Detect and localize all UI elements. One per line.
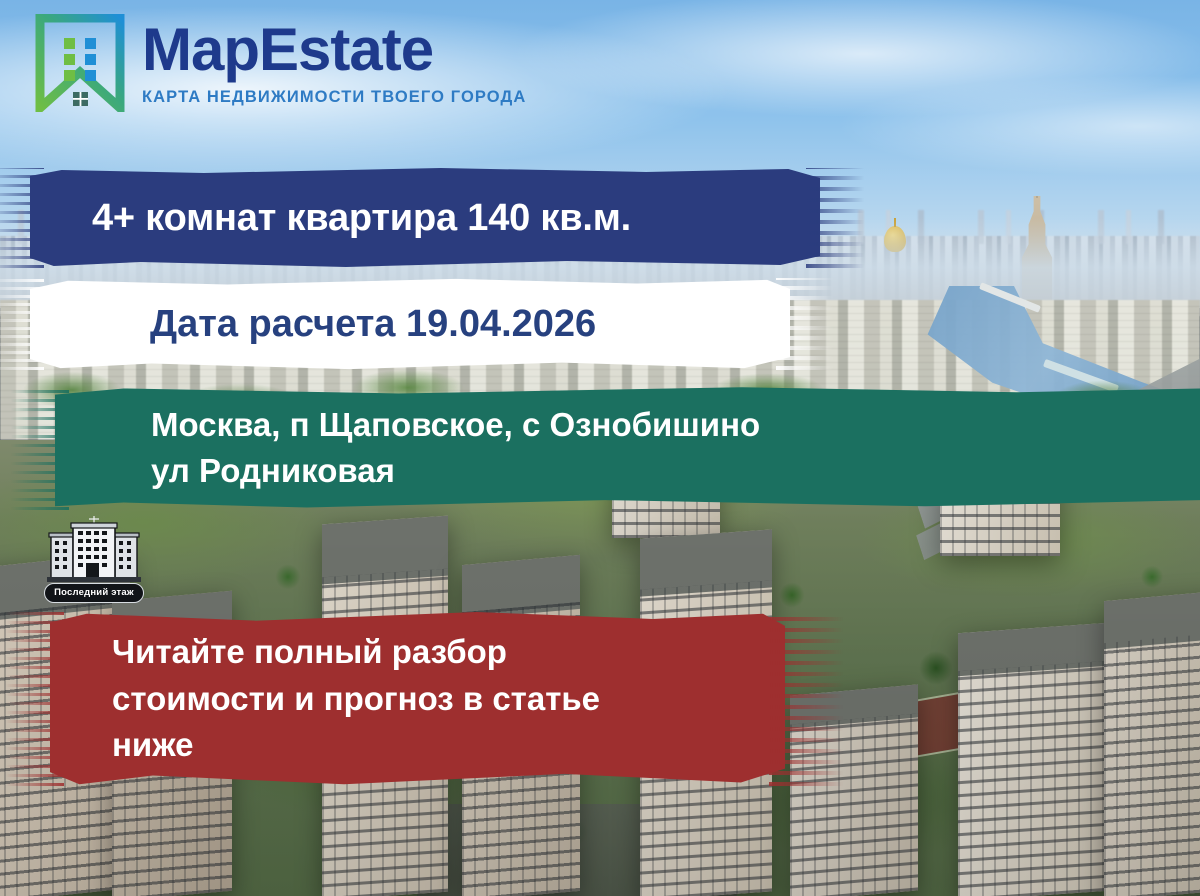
cta-line-3: ниже [112, 722, 785, 769]
address-line-2: ул Родниковая [151, 448, 1200, 494]
address-line-1: Москва, п Щаповское, с Ознобишино [151, 402, 1200, 448]
address-banner: Москва, п Щаповское, с Ознобишино ул Род… [55, 386, 1200, 510]
brand-tagline: КАРТА НЕДВИЖИМОСТИ ТВОЕГО ГОРОДА [142, 89, 526, 106]
cta-text: Читайте полный разбор стоимости и прогно… [50, 629, 785, 770]
promo-poster: MapEstate КАРТА НЕДВИЖИМОСТИ ТВОЕГО ГОРО… [0, 0, 1200, 896]
calculation-date-banner: Дата расчета 19.04.2026 [30, 278, 790, 370]
apartment-building-icon [47, 516, 141, 582]
brand-logo-text: MapEstate КАРТА НЕДВИЖИМОСТИ ТВОЕГО ГОРО… [142, 20, 526, 106]
brand-logo-header[interactable]: MapEstate КАРТА НЕДВИЖИМОСТИ ТВОЕГО ГОРО… [34, 14, 526, 112]
rooms-area-banner: 4+ комнат квартира 140 кв.м. [30, 168, 820, 268]
rooms-area-text: 4+ комнат квартира 140 кв.м. [30, 197, 820, 240]
bookmark-building-icon [34, 14, 126, 112]
brand-wordmark: MapEstate [142, 20, 526, 80]
address-text: Москва, п Щаповское, с Ознобишино ул Род… [55, 402, 1200, 493]
cta-line-1: Читайте полный разбор [112, 629, 785, 676]
last-floor-badge: Последний этаж [44, 516, 144, 603]
cta-line-2: стоимости и прогноз в статье [112, 676, 785, 723]
calculation-date-text: Дата расчета 19.04.2026 [30, 303, 790, 346]
cta-banner[interactable]: Читайте полный разбор стоимости и прогно… [50, 612, 785, 786]
last-floor-badge-label: Последний этаж [44, 583, 144, 603]
